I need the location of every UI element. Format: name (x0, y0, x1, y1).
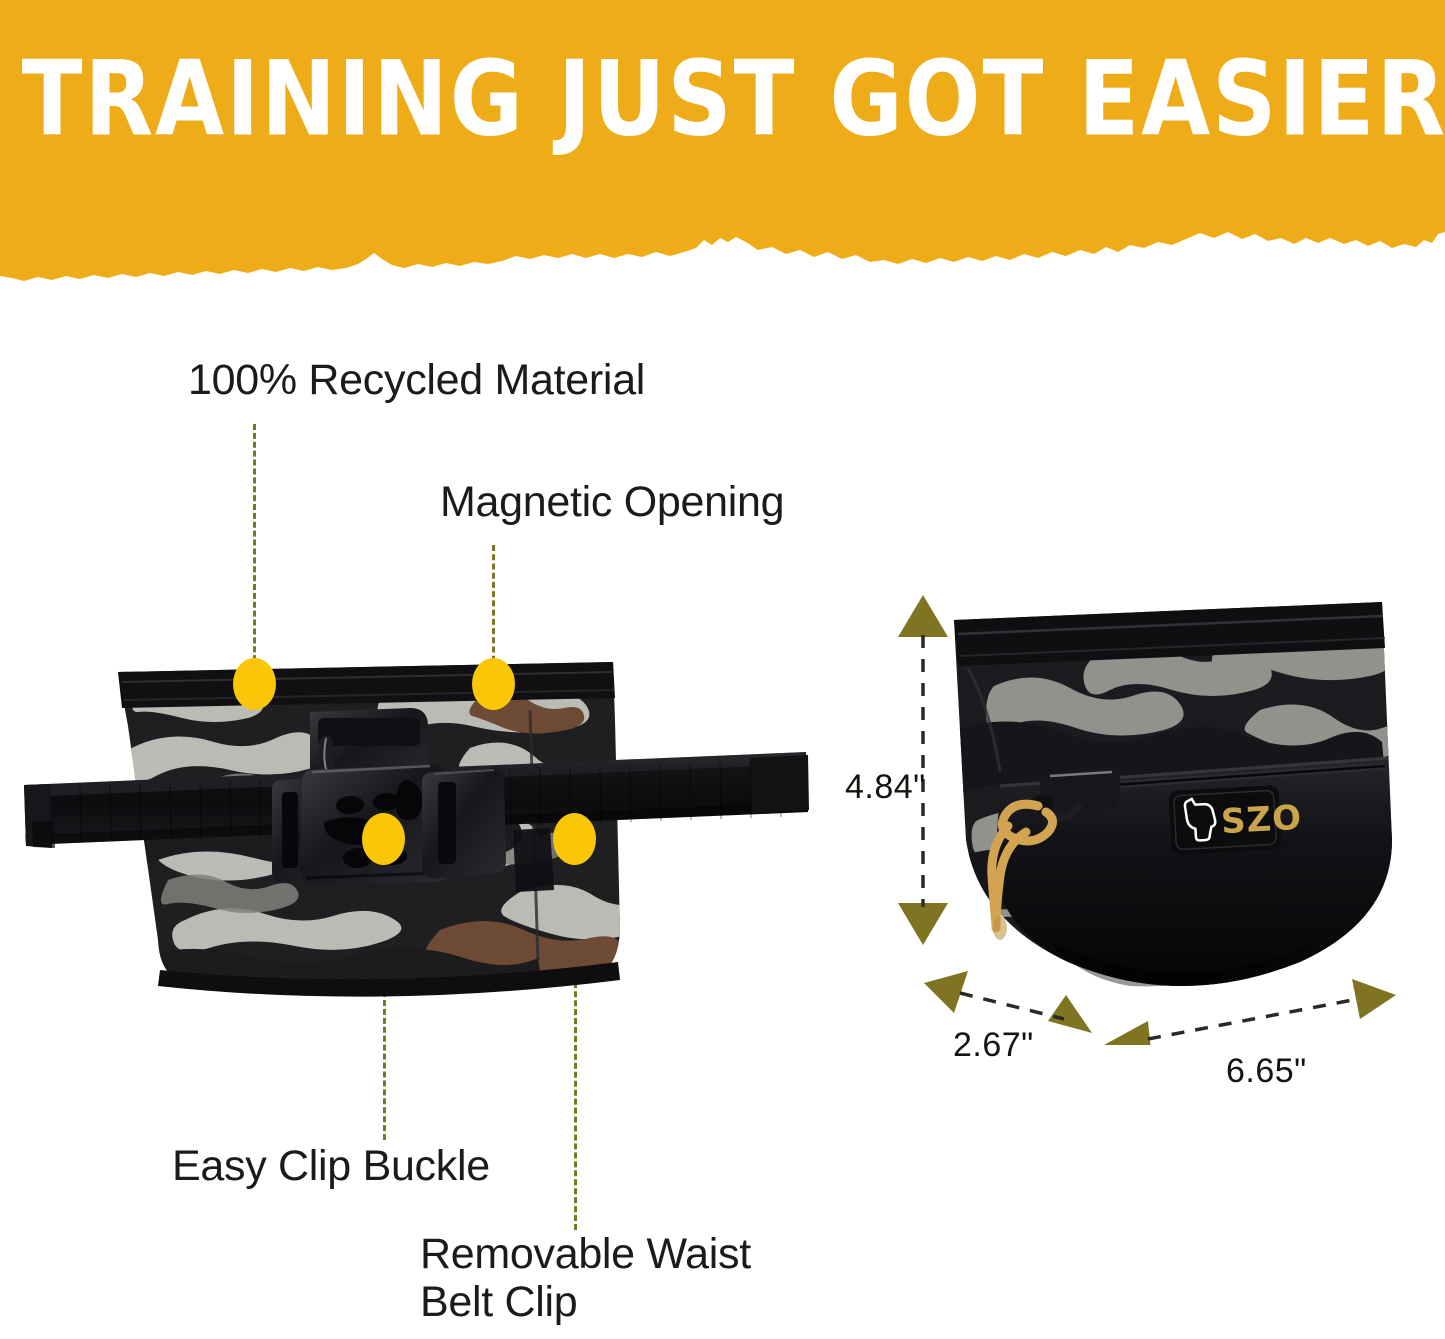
dimension-depth-arrow (924, 971, 1092, 1033)
dimension-label-width: 6.65" (1226, 1052, 1307, 1091)
banner-title: TRAINING JUST GOT EASIER (22, 46, 1424, 154)
infographic-page: TRAINING JUST GOT EASIER 100% Recycled M… (0, 0, 1445, 1339)
callout-dot-recycled-material[interactable] (233, 658, 276, 710)
callout-dot-magnetic-opening[interactable] (472, 658, 515, 710)
header-banner: TRAINING JUST GOT EASIER (0, 0, 1445, 290)
belt-loop-tab (513, 828, 554, 892)
callout-label-recycled-material: 100% Recycled Material (188, 356, 645, 404)
callout-dot-easy-clip-buckle[interactable] (362, 813, 405, 865)
product-image-pouch-with-belt (10, 630, 810, 1020)
callout-label-easy-clip-buckle: Easy Clip Buckle (172, 1142, 490, 1190)
dimension-label-depth: 2.67" (953, 1026, 1034, 1065)
callout-dot-removable-waist-belt-clip[interactable] (553, 813, 596, 865)
dimension-arrows (880, 575, 1410, 1045)
dimension-width-arrow (1104, 979, 1396, 1045)
dimension-label-height: 4.84" (845, 768, 926, 807)
callout-label-magnetic-opening: Magnetic Opening (440, 478, 784, 526)
callout-label-removable-waist-belt-clip: Removable Waist Belt Clip (420, 1230, 751, 1326)
